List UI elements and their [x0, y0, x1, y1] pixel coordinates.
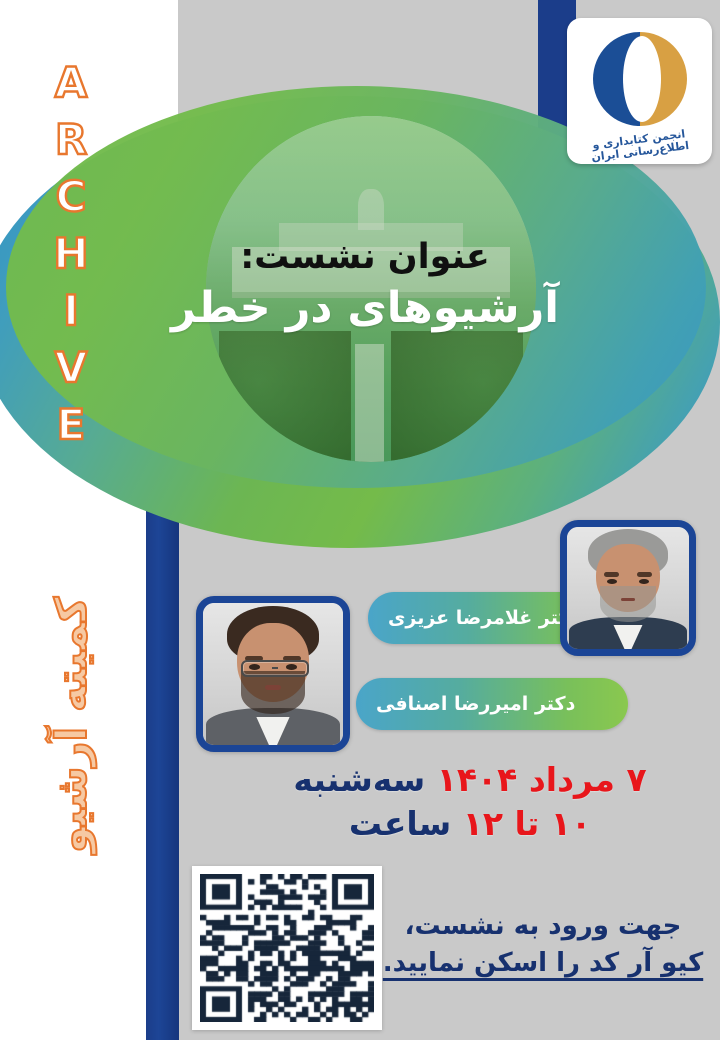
photo-beard	[241, 671, 305, 714]
schedule-date-value: ۷ مرداد ۱۴۰۴	[437, 760, 647, 799]
photo-eye-left	[249, 664, 260, 670]
archive-letter: A	[55, 62, 88, 104]
archive-letter: H	[53, 233, 88, 275]
logo-caption: انجمن کتابداری و اطلاع‌رسانی ایران	[567, 125, 712, 164]
headline-block: عنوان نشست: آرشیوهای در خطر	[150, 236, 580, 336]
schedule-date-line: ۷ مرداد ۱۴۰۴ سه‌شنبه	[240, 758, 700, 802]
archive-vertical-wordmark: A R C H I V E	[40, 62, 102, 446]
photo-eye-right	[286, 664, 297, 670]
photo-brow-right	[637, 572, 653, 577]
speaker-one-photo	[567, 527, 689, 649]
qr-code[interactable]	[192, 866, 382, 1030]
schedule-time-label: ساعت	[349, 804, 451, 843]
photo-mouth	[621, 598, 636, 602]
schedule-date-label: سه‌شنبه	[293, 760, 425, 799]
call-to-action-block: جهت ورود به نشست، کیو آر کد را اسکن نمای…	[378, 908, 708, 982]
schedule-time-line: ۱۰ تا ۱۲ ساعت	[240, 802, 700, 846]
archive-letter: V	[55, 347, 88, 389]
photo-beard	[600, 586, 656, 623]
logo-inner-notch	[623, 36, 661, 122]
association-logo-card: انجمن کتابداری و اطلاع‌رسانی ایران	[567, 18, 712, 164]
speaker-two-photo	[203, 603, 343, 745]
schedule-block: ۷ مرداد ۱۴۰۴ سه‌شنبه ۱۰ تا ۱۲ ساعت	[240, 758, 700, 846]
photo-hedge-right	[391, 331, 523, 462]
photo-hedge-left	[219, 331, 351, 462]
archive-letter: I	[63, 290, 79, 332]
avatar	[196, 596, 350, 752]
photo-brow-left	[604, 572, 620, 577]
qr-code-canvas[interactable]	[200, 874, 374, 1022]
blue-vertical-spine	[146, 492, 179, 1040]
page-title: آرشیوهای در خطر	[150, 282, 580, 336]
cta-line-one: جهت ورود به نشست،	[378, 908, 708, 945]
committee-vertical-label: کمیته آرشیو	[47, 575, 97, 875]
archive-letter: C	[56, 176, 87, 218]
archive-letter: E	[57, 404, 86, 446]
speaker-name-badge: دکتر امیررضا اصنافی	[356, 678, 628, 730]
avatar	[560, 520, 696, 656]
photo-pathway	[355, 344, 385, 462]
session-title-label: عنوان نشست:	[150, 236, 580, 280]
schedule-time-value: ۱۰ تا ۱۲	[463, 804, 591, 843]
photo-mouth	[265, 685, 282, 689]
poster-root: A R C H I V E انجمن کتابداری و اطلاع‌رسا…	[0, 0, 720, 1040]
association-logo-icon	[593, 32, 687, 126]
cta-line-two: کیو آر کد را اسکن نمایید.	[378, 945, 708, 982]
archive-letter: R	[55, 119, 87, 161]
